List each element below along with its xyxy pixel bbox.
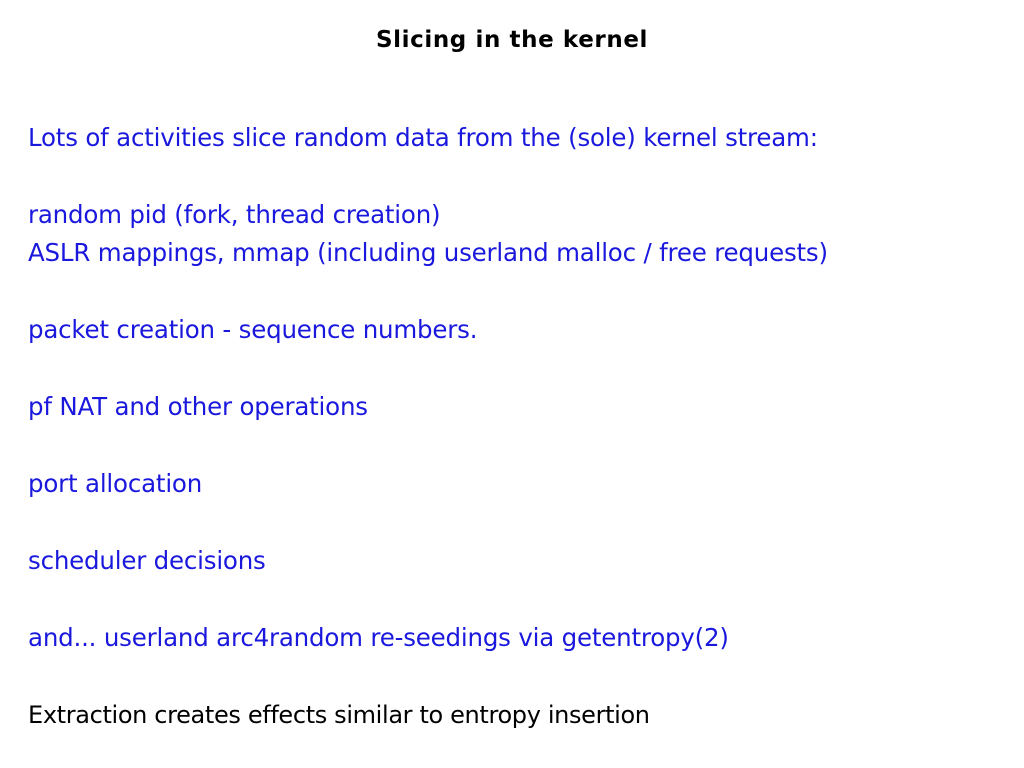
paragraph-pid-aslr: random pid (fork, thread creation) ASLR …	[28, 196, 996, 272]
paragraph-intro-line-1: Lots of activities slice random data fro…	[28, 119, 996, 157]
paragraph-pf-nat-line-1: pf NAT and other operations	[28, 388, 996, 426]
spacer	[28, 349, 996, 388]
spacer	[28, 157, 996, 196]
spacer	[28, 426, 996, 465]
spacer	[28, 272, 996, 311]
slide-title: Slicing in the kernel	[0, 27, 1024, 53]
paragraph-packet-creation: packet creation - sequence numbers.	[28, 311, 996, 349]
slide-body: Lots of activities slice random data fro…	[28, 119, 996, 734]
spacer	[28, 580, 996, 619]
paragraph-pf-nat: pf NAT and other operations	[28, 388, 996, 426]
spacer	[28, 657, 996, 696]
spacer	[28, 503, 996, 542]
paragraph-conclusion: Extraction creates effects similar to en…	[28, 696, 996, 734]
paragraph-pid-aslr-line-1: random pid (fork, thread creation)	[28, 196, 996, 234]
paragraph-pid-aslr-line-2: ASLR mappings, mmap (including userland …	[28, 234, 996, 272]
paragraph-port-allocation-line-1: port allocation	[28, 465, 996, 503]
presentation-slide: Slicing in the kernel Lots of activities…	[0, 0, 1024, 768]
paragraph-scheduler: scheduler decisions	[28, 542, 996, 580]
paragraph-arc4random-line-1: and... userland arc4random re-seedings v…	[28, 619, 996, 657]
paragraph-arc4random: and... userland arc4random re-seedings v…	[28, 619, 996, 657]
paragraph-packet-creation-line-1: packet creation - sequence numbers.	[28, 311, 996, 349]
paragraph-conclusion-line-1: Extraction creates effects similar to en…	[28, 696, 996, 734]
paragraph-port-allocation: port allocation	[28, 465, 996, 503]
paragraph-scheduler-line-1: scheduler decisions	[28, 542, 996, 580]
paragraph-intro: Lots of activities slice random data fro…	[28, 119, 996, 157]
